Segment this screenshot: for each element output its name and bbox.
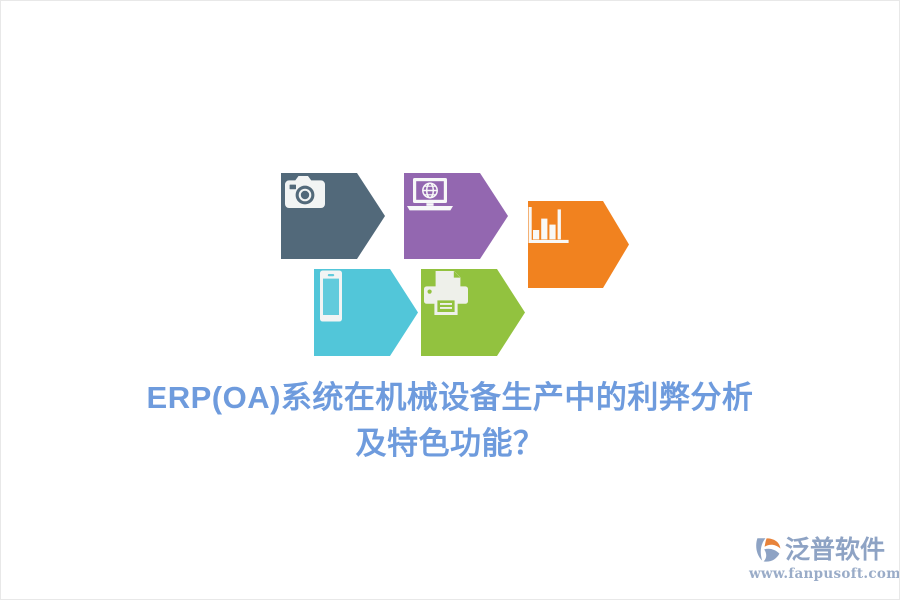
arrow-badge-printer [421,269,525,356]
smartphone-icon [314,269,390,356]
screenshot-canvas: ERP(OA)系统在机械设备生产中的利弊分析 及特色功能？ 泛普软件 www.f… [0,0,900,600]
watermark-brand-text: 泛普软件 [785,536,885,564]
fanpu-logo-icon [754,536,782,564]
page-title-line-1: ERP(OA)系统在机械设备生产中的利弊分析 [1,375,899,421]
arrow-badge-camera [281,173,385,259]
laptop-globe-icon [404,173,480,259]
arrow-badge-bar-chart [528,201,629,288]
watermark: 泛普软件 www.fanpusoft.com [749,533,885,589]
printer-icon [421,269,497,356]
bar-chart-icon [528,201,603,288]
page-title-line-2: 及特色功能？ [1,421,899,467]
watermark-brand-row: 泛普软件 [749,533,885,567]
watermark-url-text: www.fanpusoft.com [749,566,885,582]
arrow-badge-laptop-globe [404,173,508,259]
page-title: ERP(OA)系统在机械设备生产中的利弊分析 及特色功能？ [1,375,899,467]
arrow-badge-smartphone [314,269,418,356]
camera-icon [281,173,357,259]
